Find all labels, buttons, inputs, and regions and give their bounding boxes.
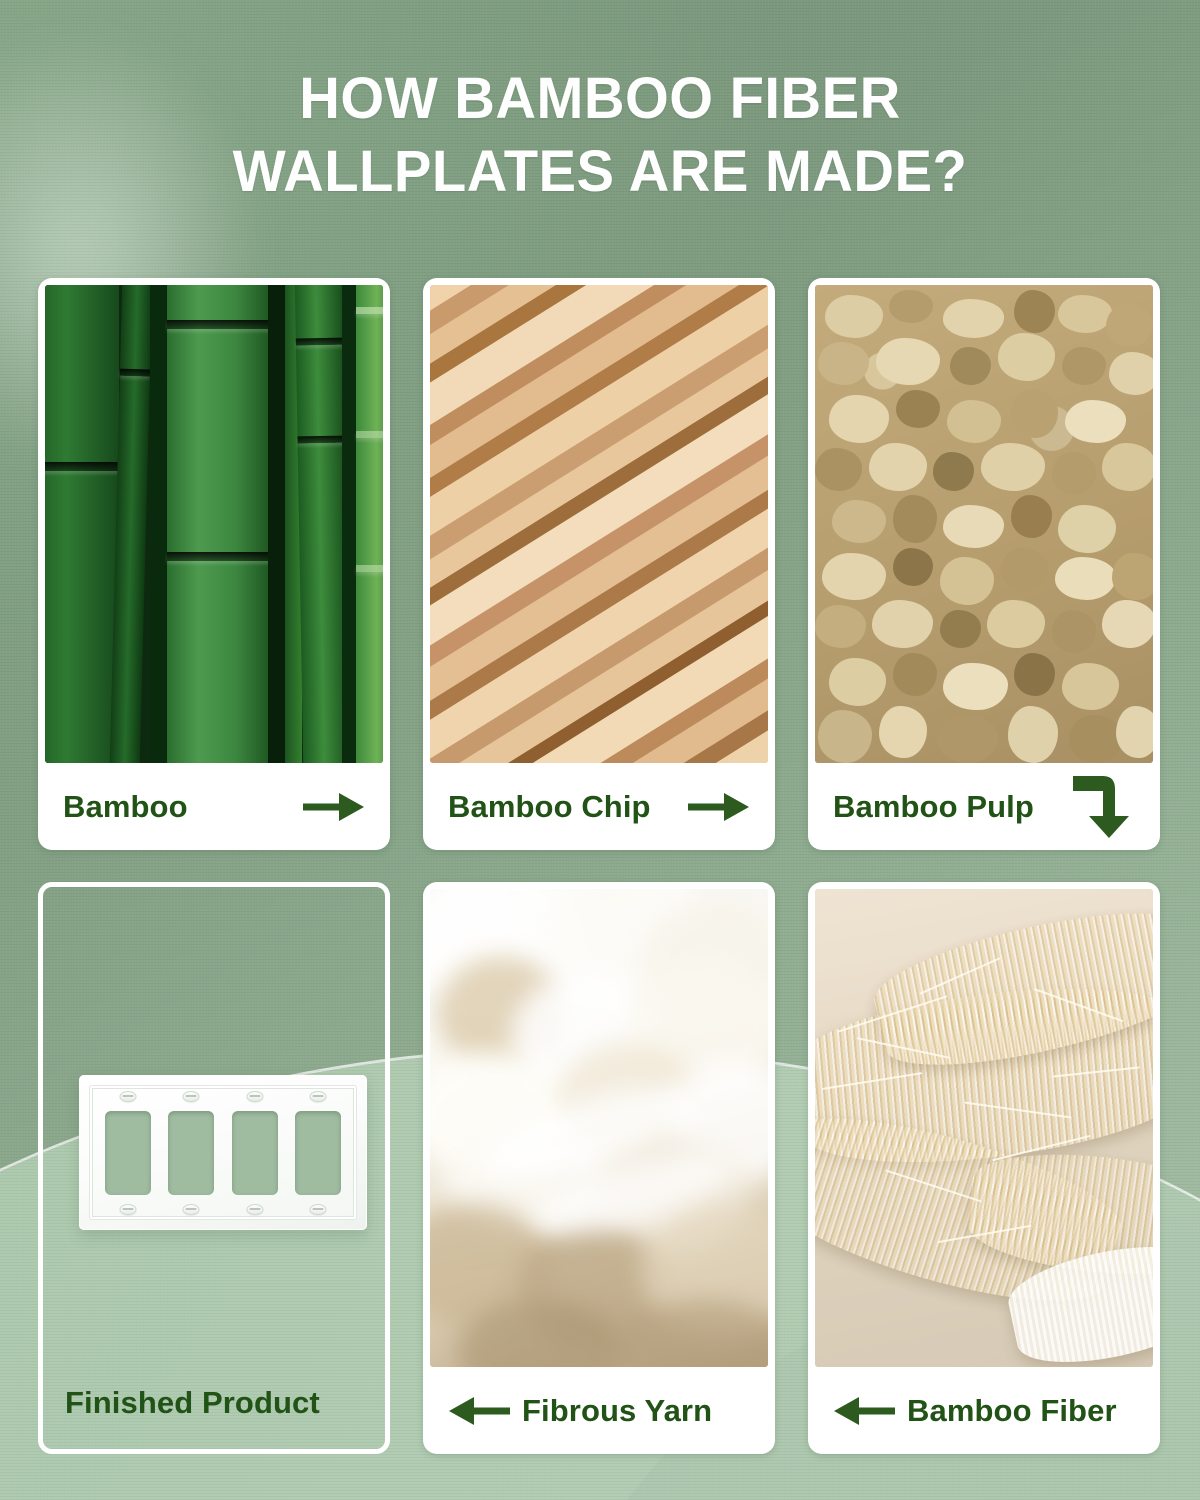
caption-bamboo-chip: Bamboo Chip [430,763,768,850]
screw-icon [246,1204,263,1215]
caption-bamboo-fiber: Bamboo Fiber [815,1367,1153,1454]
caption-fibrous-yarn: Fibrous Yarn [430,1367,768,1454]
step-label-bamboo-pulp: Bamboo Pulp [833,789,1034,825]
screw-icon [246,1091,263,1102]
page-title-line-1: HOW BAMBOO FIBER [18,62,1182,135]
step-card-bamboo-chip[interactable]: Bamboo Chip [423,278,775,850]
arrow-left-icon [448,1391,510,1431]
caption-finished-product: Finished Product [43,1329,385,1449]
white-fibrous-yarn-photo [430,889,768,1367]
page-title: HOW BAMBOO FIBER WALLPLATES ARE MADE? [18,62,1182,208]
bamboo-fiber-strands-photo [815,889,1153,1367]
wallplate-gang-opening [105,1111,151,1195]
bamboo-pulp-flakes-photo [815,285,1153,763]
bamboo-stalks-photo [45,285,383,763]
step-card-fibrous-yarn[interactable]: Fibrous Yarn [423,882,775,1454]
screw-icon [120,1091,137,1102]
step-label-finished-product: Finished Product [65,1385,320,1421]
screw-icon [183,1091,200,1102]
white-4-gang-wallplate-photo [43,887,385,1329]
screw-icon [120,1204,137,1215]
wallplate-gang-opening [168,1111,214,1195]
step-card-bamboo-fiber[interactable]: Bamboo Fiber [808,882,1160,1454]
screw-icon [183,1204,200,1215]
arrow-right-icon [688,787,750,827]
caption-bamboo: Bamboo [45,763,383,850]
step-card-bamboo[interactable]: Bamboo [38,278,390,850]
wallplate-gang-opening [232,1111,278,1195]
arrow-right-icon [303,787,365,827]
step-label-fibrous-yarn: Fibrous Yarn [522,1393,712,1429]
step-card-bamboo-pulp[interactable]: Bamboo Pulp [808,278,1160,850]
page-title-line-2: WALLPLATES ARE MADE? [18,135,1182,208]
step-label-bamboo: Bamboo [63,789,188,825]
step-card-finished-product[interactable]: Finished Product [38,882,390,1454]
screw-icon [309,1204,326,1215]
arrow-elbow-right-down-icon [1071,772,1135,842]
bamboo-chip-strips-photo [430,285,768,763]
step-label-bamboo-fiber: Bamboo Fiber [907,1393,1117,1429]
screw-icon [309,1091,326,1102]
step-label-bamboo-chip: Bamboo Chip [448,789,651,825]
wallplate [79,1075,367,1230]
caption-bamboo-pulp: Bamboo Pulp [815,763,1153,850]
process-step-grid: Bamboo [38,278,1164,1454]
wallplate-gang-opening [295,1111,341,1195]
arrow-left-icon [833,1391,895,1431]
